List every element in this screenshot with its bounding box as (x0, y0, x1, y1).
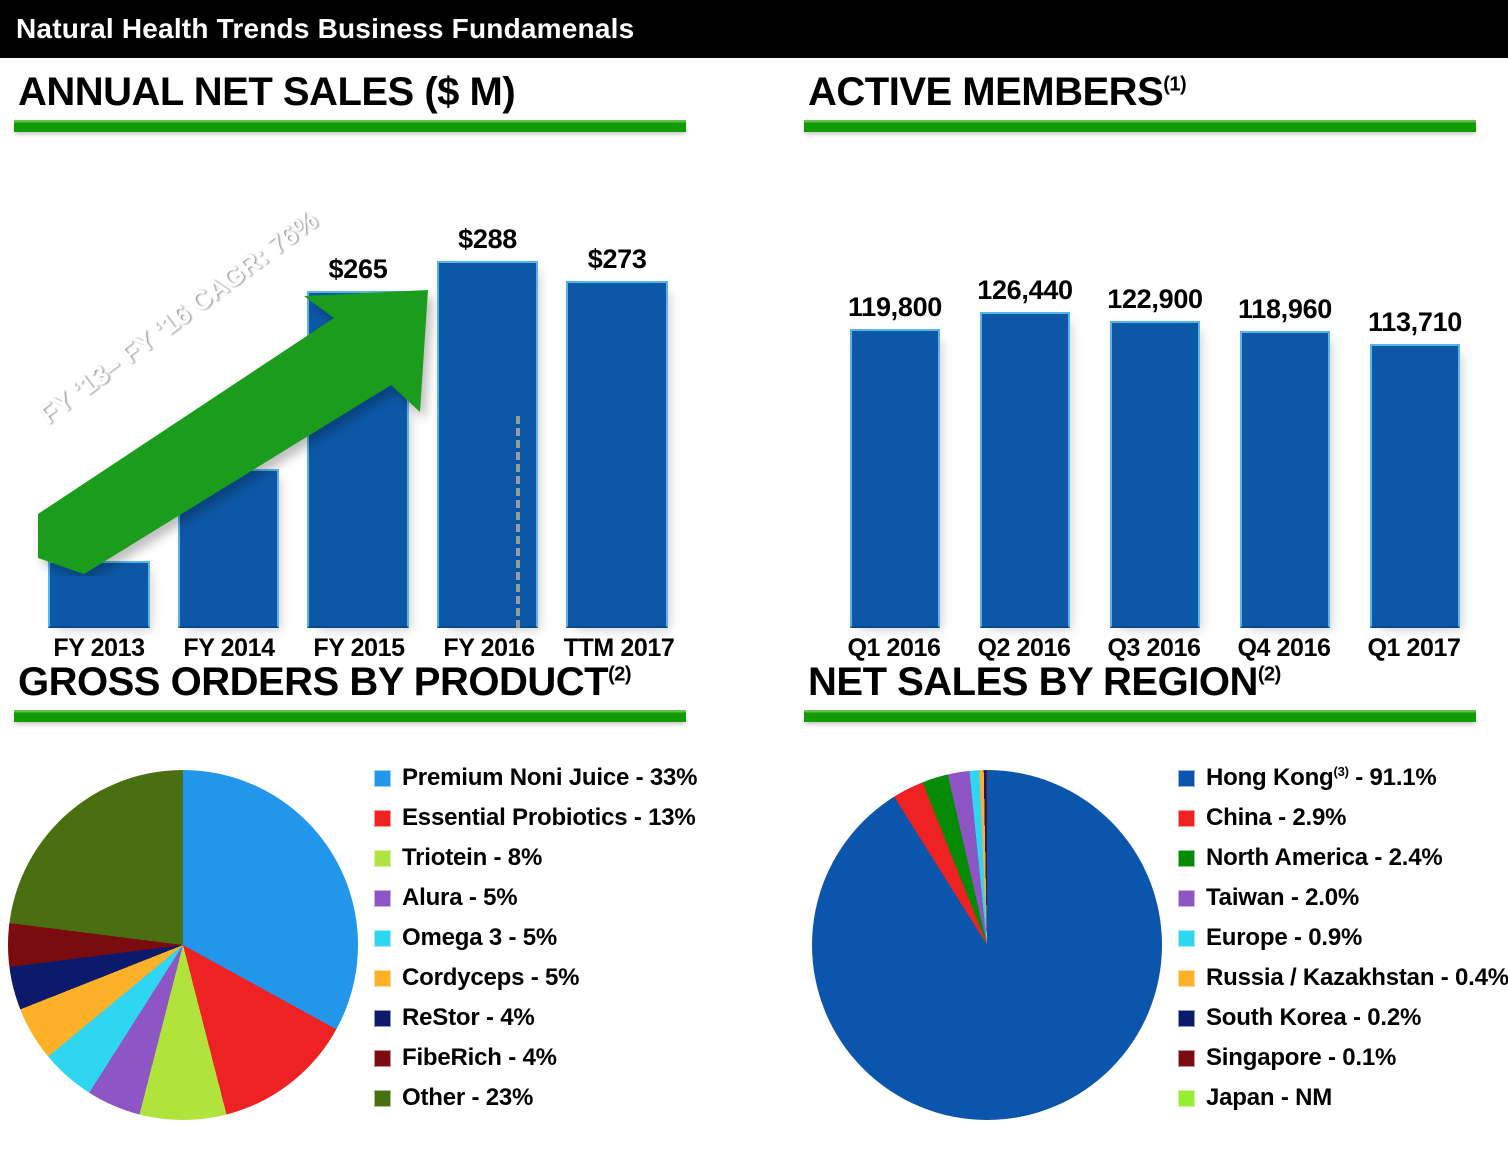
bar (1240, 331, 1330, 628)
gross-orders-title-text: GROSS ORDERS BY PRODUCT (18, 660, 608, 704)
legend-item-label: China - 2.9% (1206, 804, 1346, 832)
active-members-rule (804, 120, 1476, 132)
legend-swatch-icon (1178, 930, 1195, 947)
gross-orders-title: GROSS ORDERS BY PRODUCT(2) (0, 648, 754, 702)
legend-item-label: Europe - 0.9% (1206, 924, 1362, 952)
bar-column: $273 (566, 244, 668, 628)
legend-item[interactable]: Europe - 0.9% (1178, 918, 1508, 958)
bar-value-label: $53 (77, 524, 121, 555)
bar-column: 126,440 (980, 275, 1070, 628)
legend-swatch-icon (1178, 1050, 1195, 1067)
bar-value-label: 118,960 (1238, 294, 1332, 325)
active-members-title: ACTIVE MEMBERS(1) (790, 58, 1508, 112)
legend-footnote-marker: (3) (1334, 764, 1349, 779)
legend-item[interactable]: Singapore - 0.1% (1178, 1038, 1508, 1078)
bar-value-label: $125 (199, 432, 258, 463)
bar-column: $125 (178, 432, 280, 628)
legend-swatch-icon (1178, 1010, 1195, 1027)
legend-item[interactable]: Taiwan - 2.0% (1178, 878, 1508, 918)
bar (850, 329, 940, 629)
bar (1370, 344, 1460, 628)
bar-value-label: 119,800 (848, 292, 942, 323)
legend-swatch-icon (1178, 850, 1195, 867)
bar-column: $288 (437, 224, 539, 628)
legend-item-label: Taiwan - 2.0% (1206, 884, 1359, 912)
net-sales-region-title-text: NET SALES BY REGION (808, 660, 1258, 704)
bar-value-label: 126,440 (977, 275, 1073, 306)
legend-item[interactable]: North America - 2.4% (1178, 838, 1508, 878)
net-sales-region-pie-row: Hong Kong(3) - 91.1%China - 2.9%North Am… (0, 758, 1508, 1138)
legend-item[interactable]: China - 2.9% (1178, 798, 1508, 838)
net-sales-region-rule (804, 710, 1476, 722)
bar (566, 281, 668, 628)
legend-swatch-icon (1178, 770, 1195, 787)
active-members-bars: 119,800126,440122,900118,960113,710 (850, 138, 1470, 628)
annual-net-sales-rule (14, 120, 686, 132)
header-bar: Natural Health Trends Business Fundamena… (0, 0, 1508, 58)
panel-annual-net-sales: ANNUAL NET SALES ($ M) $53$125$265$288$2… (0, 58, 754, 648)
legend-item-label: Russia / Kazakhstan - 0.4% (1206, 964, 1508, 992)
bar-column: 119,800 (850, 292, 940, 629)
bar-value-label: 113,710 (1368, 307, 1462, 338)
legend-swatch-icon (1178, 890, 1195, 907)
legend-swatch-icon (1178, 1090, 1195, 1107)
legend-swatch-icon (1178, 810, 1195, 827)
legend-item[interactable]: Russia / Kazakhstan - 0.4% (1178, 958, 1508, 998)
active-members-chart: 119,800126,440122,900118,960113,710 Q1 2… (790, 138, 1508, 678)
legend-item[interactable]: South Korea - 0.2% (1178, 998, 1508, 1038)
bar (48, 561, 150, 628)
legend-item-label: South Korea - 0.2% (1206, 1004, 1421, 1032)
bar-column: 113,710 (1370, 307, 1460, 628)
bar-value-label: $273 (588, 244, 647, 275)
net-sales-region-pie-chart (812, 770, 1162, 1120)
net-sales-region-footnote-marker: (2) (1258, 664, 1281, 686)
bar-value-label: 122,900 (1107, 284, 1203, 315)
legend-item[interactable]: Japan - NM (1178, 1078, 1508, 1118)
net-sales-region-legend: Hong Kong(3) - 91.1%China - 2.9%North Am… (1178, 758, 1508, 1118)
legend-item[interactable]: Hong Kong(3) - 91.1% (1178, 758, 1508, 798)
panel-active-members: ACTIVE MEMBERS(1) 119,800126,440122,9001… (790, 58, 1508, 648)
annual-net-sales-bars: $53$125$265$288$273 (48, 138, 668, 628)
page-title: Natural Health Trends Business Fundamena… (0, 13, 634, 45)
legend-item-label: Japan - NM (1206, 1084, 1332, 1112)
annual-net-sales-title-text: ANNUAL NET SALES ($ M) (18, 70, 515, 114)
bar-column: $53 (48, 524, 150, 628)
legend-swatch-icon (1178, 970, 1195, 987)
active-members-footnote-marker: (1) (1163, 74, 1186, 96)
legend-item-label: Hong Kong(3) - 91.1% (1206, 764, 1437, 792)
net-sales-region-title: NET SALES BY REGION(2) (790, 648, 1508, 702)
bar (980, 312, 1070, 628)
annual-net-sales-chart: $53$125$265$288$273 FY 2013FY 2014FY 201… (0, 138, 754, 678)
bar-column: 122,900 (1110, 284, 1200, 628)
bar (307, 291, 409, 628)
bar-value-label: $265 (329, 254, 388, 285)
bar-column: 118,960 (1240, 294, 1330, 628)
legend-item-label: North America - 2.4% (1206, 844, 1443, 872)
bar (178, 469, 280, 628)
gross-orders-footnote-marker: (2) (608, 664, 631, 686)
bar (1110, 321, 1200, 628)
legend-item-label: Singapore - 0.1% (1206, 1044, 1396, 1072)
bar-value-label: $288 (458, 224, 517, 255)
annual-net-sales-title: ANNUAL NET SALES ($ M) (0, 58, 754, 112)
bar-column: $265 (307, 254, 409, 628)
forecast-divider (516, 416, 520, 628)
active-members-title-text: ACTIVE MEMBERS (808, 70, 1163, 114)
bar (437, 261, 539, 628)
gross-orders-rule (14, 710, 686, 722)
